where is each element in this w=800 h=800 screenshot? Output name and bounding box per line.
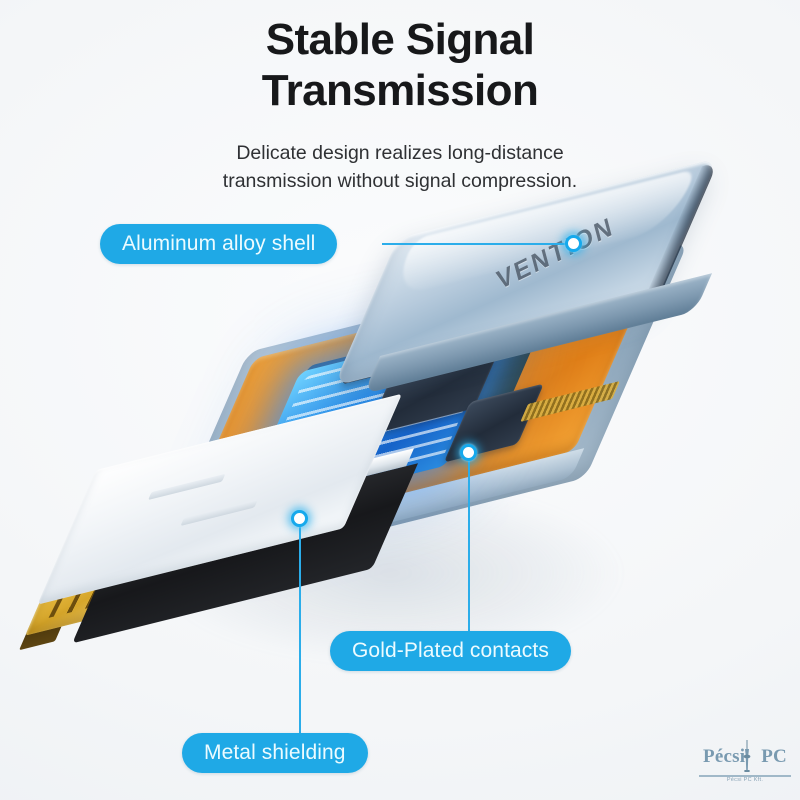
callout-label-gold-plated-contacts[interactable]: Gold-Plated contacts <box>330 631 571 671</box>
leader-line-gold-plated-contacts <box>468 452 470 632</box>
callout-dot-aluminum-alloy-shell[interactable] <box>565 235 582 252</box>
tv-tower-icon <box>741 740 753 776</box>
callout-label-aluminum-alloy-shell[interactable]: Aluminum alloy shell <box>100 224 337 264</box>
product-infographic: Stable Signal Transmission Delicate desi… <box>0 0 800 800</box>
watermark-text-right: PC <box>761 746 787 768</box>
callout-label-metal-shielding[interactable]: Metal shielding <box>182 733 368 773</box>
watermark-subtext: Pécsi PC Kft. <box>697 777 793 783</box>
watermark-logo: Pécsi PC Pécsi PC Kft. <box>697 744 793 792</box>
shell-highlight <box>389 169 696 298</box>
callout-dot-gold-plated-contacts[interactable] <box>460 444 477 461</box>
leader-line-metal-shielding <box>299 518 301 734</box>
callout-dot-metal-shielding[interactable] <box>291 510 308 527</box>
product-illustration: VENTION <box>0 0 800 800</box>
watermark-text-left: Pécsi <box>703 746 745 768</box>
leader-line-aluminum-alloy-shell <box>382 243 566 245</box>
